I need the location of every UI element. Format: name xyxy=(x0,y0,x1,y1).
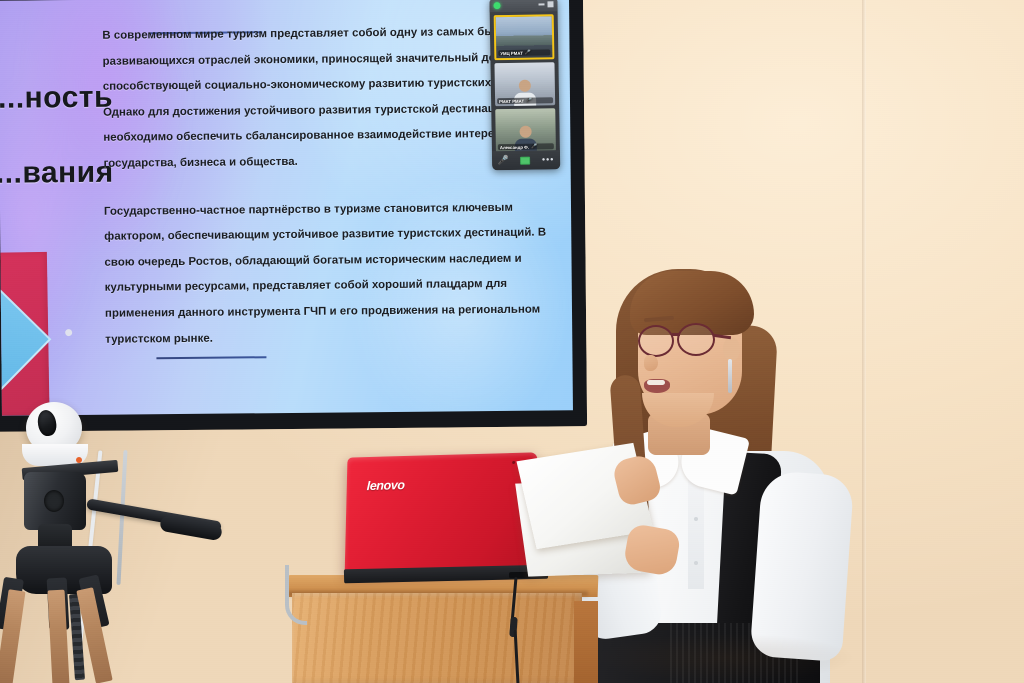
participant-name-0: УМЦ РМАТ xyxy=(500,50,523,55)
maximize-icon[interactable] xyxy=(547,1,553,7)
recording-indicator-icon xyxy=(493,2,500,9)
earring xyxy=(728,359,732,393)
mic-button[interactable]: 🎤 xyxy=(498,156,509,165)
video-call-controls[interactable]: 🎤 ••• xyxy=(492,150,560,170)
participant-tile-0[interactable]: УМЦ РМАТ 🎤 xyxy=(494,14,555,60)
video-call-titlebar[interactable] xyxy=(489,0,557,12)
slide-paragraph-2: Государственно-частное партнёрство в тур… xyxy=(104,195,555,353)
video-call-panel[interactable]: УМЦ РМАТ 🎤 РМАТ РМАТ 🎤 xyxy=(489,0,560,170)
participant-tile-1[interactable]: РМАТ РМАТ 🎤 xyxy=(494,62,555,106)
participant-name-1: РМАТ РМАТ xyxy=(499,98,524,103)
minimize-icon[interactable] xyxy=(538,3,544,5)
participant-name-2: Александр Ф. xyxy=(500,144,529,149)
slide-rule-bottom xyxy=(156,356,266,359)
participant-tile-2[interactable]: Александр Ф. 🎤 xyxy=(495,108,556,152)
tripod-tension-knob[interactable] xyxy=(44,490,64,512)
avatar-head xyxy=(519,80,531,92)
laptop[interactable]: lenovo xyxy=(340,455,545,585)
teeth xyxy=(647,380,665,385)
participant-mic-icon-0: 🎤 xyxy=(525,50,531,55)
laptop-lid: lenovo xyxy=(345,452,538,575)
camera-icon xyxy=(520,156,530,164)
slide-title: ...ность ...вания xyxy=(0,60,114,212)
participant-mic-icon-2: 🎤 xyxy=(531,144,537,149)
laptop-brand-logo: lenovo xyxy=(367,478,405,493)
participant-label-2: Александр Ф. 🎤 xyxy=(498,143,554,150)
podium-side-panel xyxy=(574,601,598,683)
slide-decoration-dot xyxy=(65,329,72,336)
camera-button[interactable] xyxy=(520,156,530,164)
podium-cable-loop xyxy=(285,565,307,625)
slide-paragraph-1: В современном мире туризм представляет с… xyxy=(102,19,553,177)
presenter-shadow xyxy=(560,620,890,683)
microphone-icon: 🎤 xyxy=(498,156,509,165)
shirt-button xyxy=(694,561,698,565)
glasses-bridge xyxy=(672,333,680,336)
shirt-button xyxy=(694,517,698,521)
more-options-button[interactable]: ••• xyxy=(542,155,555,164)
display-screen: ...ность ...вания В современном мире тур… xyxy=(0,0,573,416)
avatar-head xyxy=(520,126,532,138)
camera-tripod-rig[interactable] xyxy=(0,398,250,683)
wood-grain xyxy=(292,593,582,683)
window-controls[interactable] xyxy=(538,1,553,7)
slide-title-line-1: ...ность xyxy=(0,60,113,137)
more-icon: ••• xyxy=(542,155,555,164)
participant-label-1: РМАТ РМАТ 🎤 xyxy=(497,97,553,104)
presentation-display: ...ность ...вания В современном мире тур… xyxy=(0,0,587,432)
participant-mic-icon-1: 🎤 xyxy=(526,98,532,103)
laptop-hinge-dot xyxy=(512,461,515,464)
podium xyxy=(288,575,598,683)
participant-label-0: УМЦ РМАТ 🎤 xyxy=(498,49,550,56)
conference-room-scene: ...ность ...вания В современном мире тур… xyxy=(0,0,1024,683)
participant-tiles: УМЦ РМАТ 🎤 РМАТ РМАТ 🎤 xyxy=(490,11,560,152)
slide-body-text: В современном мире туризм представляет с… xyxy=(102,19,555,352)
ear xyxy=(723,337,740,361)
nose xyxy=(644,355,658,371)
slide-title-line-2: ...вания xyxy=(0,135,114,212)
glasses-left-lens xyxy=(638,325,674,357)
podium-front-panel xyxy=(292,593,582,683)
glasses-right-lens xyxy=(677,323,715,356)
